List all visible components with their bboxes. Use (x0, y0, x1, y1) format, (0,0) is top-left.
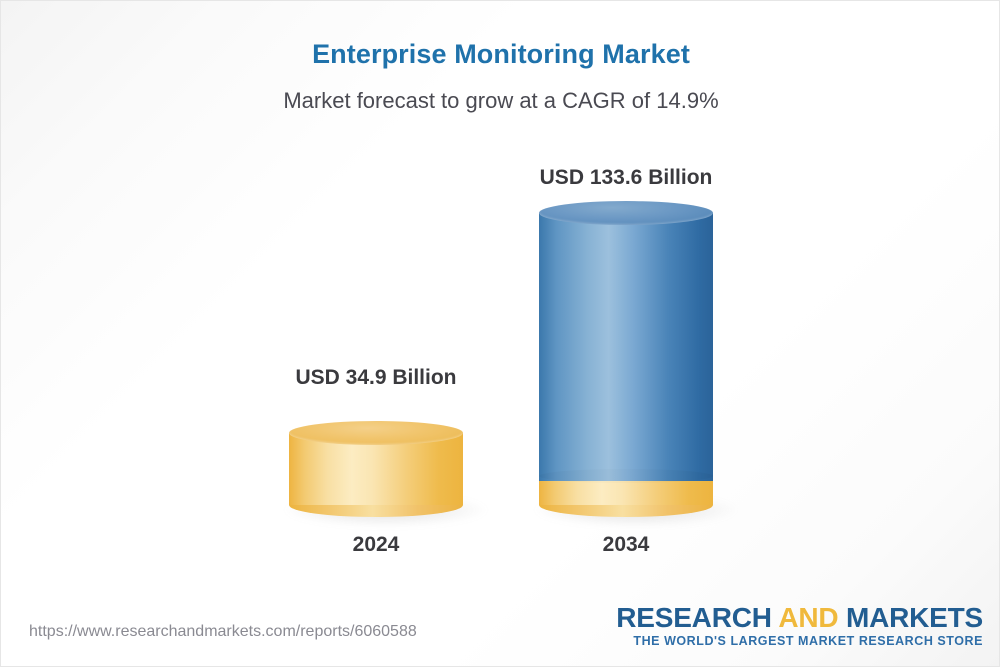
brand-logo: RESEARCH AND MARKETS THE WORLD'S LARGEST… (616, 603, 983, 648)
bar-category-label-2034: 2034 (491, 533, 761, 557)
brand-logo-markets: MARKETS (838, 602, 983, 633)
bar-value-label-2034: USD 133.6 Billion (491, 166, 761, 190)
plot-area: USD 34.9 Billion 2024 USD 133.6 Billion (1, 1, 1000, 601)
bar-body-2034 (539, 213, 713, 481)
bar-top-cap-2024 (289, 421, 463, 445)
bar-group-2034: USD 133.6 Billion 2034 (491, 151, 761, 571)
brand-logo-wordmark: RESEARCH AND MARKETS (616, 603, 983, 632)
bar-category-label-2024: 2024 (241, 533, 511, 557)
bar-cylinder-2034 (539, 201, 713, 517)
bar-segment-seam-2034 (539, 469, 713, 483)
source-url[interactable]: https://www.researchandmarkets.com/repor… (29, 623, 417, 641)
bar-top-cap-2034 (539, 201, 713, 225)
brand-logo-tagline: THE WORLD'S LARGEST MARKET RESEARCH STOR… (616, 634, 983, 648)
bar-cylinder-2024 (289, 421, 463, 517)
bar-group-2024: USD 34.9 Billion 2024 (241, 151, 511, 571)
brand-logo-research: RESEARCH (616, 602, 778, 633)
bar-value-label-2024: USD 34.9 Billion (241, 366, 511, 390)
chart-canvas: Enterprise Monitoring Market Market fore… (0, 0, 1000, 667)
bar-segment-top-2034 (539, 201, 713, 481)
brand-logo-and: AND (778, 602, 838, 633)
